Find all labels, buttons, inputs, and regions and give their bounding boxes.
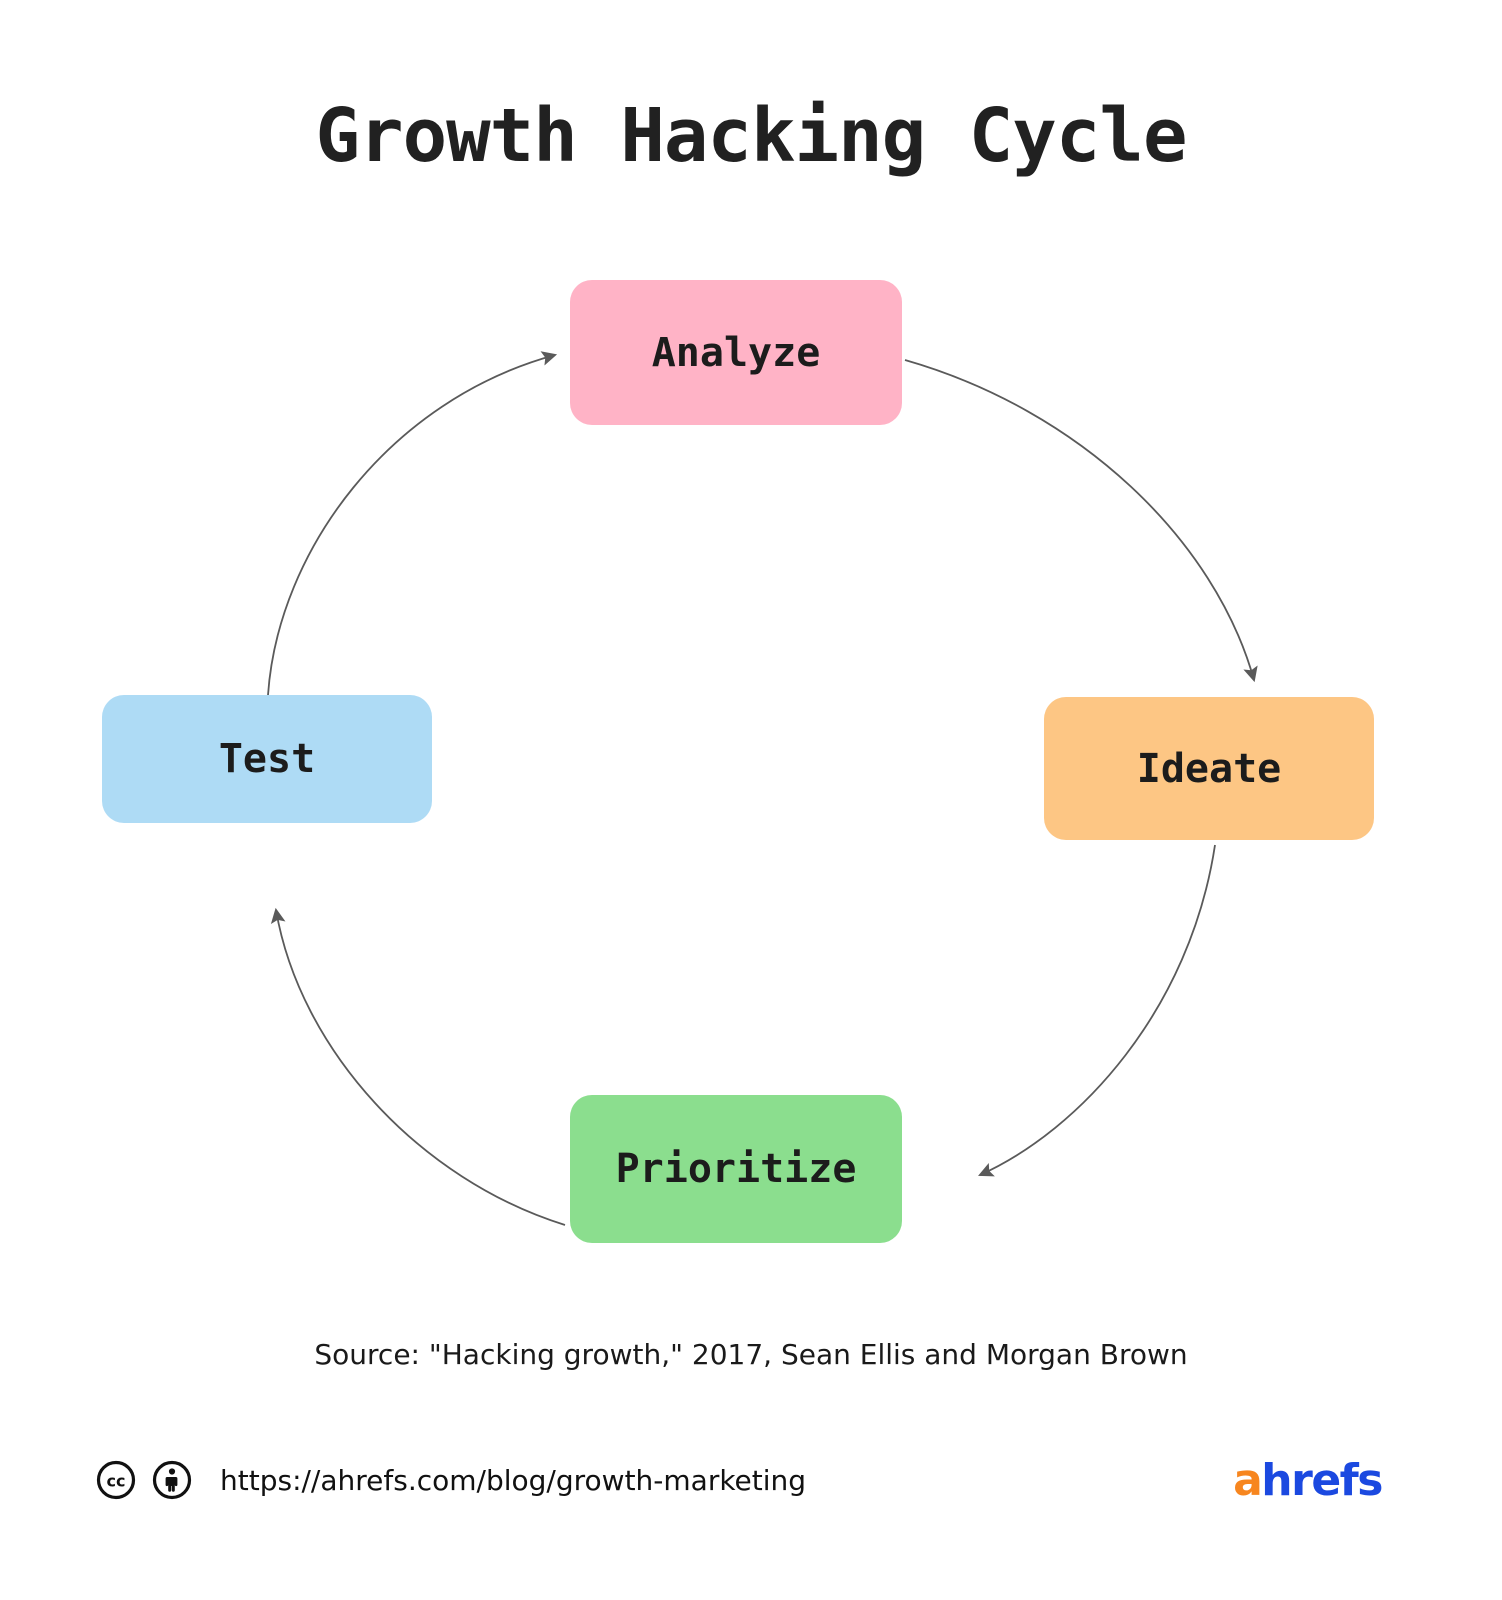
attribution-icon [152, 1460, 192, 1500]
footer: cc https://ahrefs.com/blog/growth-market… [0, 1440, 1502, 1520]
svg-text:cc: cc [107, 1472, 126, 1491]
ahrefs-logo-text: hrefs [1261, 1455, 1382, 1506]
edge-prioritize-to-test [276, 910, 565, 1225]
edge-ideate-to-prioritize [980, 845, 1215, 1175]
cycle-node-ideate-label: Ideate [1137, 746, 1282, 792]
growth-hacking-cycle-diagram: Analyze Ideate Prioritize Test [0, 250, 1502, 1300]
creative-commons-icon: cc [96, 1460, 136, 1500]
page-title: Growth Hacking Cycle [0, 96, 1502, 177]
cycle-node-prioritize[interactable]: Prioritize [570, 1095, 902, 1243]
cycle-node-analyze-label: Analyze [652, 330, 821, 376]
ahrefs-logo[interactable]: ahrefs [1233, 1440, 1382, 1520]
source-attribution: Source: "Hacking growth," 2017, Sean Ell… [0, 1338, 1502, 1371]
edge-analyze-to-ideate [905, 360, 1254, 680]
cycle-node-test-label: Test [219, 736, 315, 782]
ahrefs-logo-accent: a [1233, 1455, 1261, 1506]
edge-test-to-analyze [268, 355, 555, 695]
cycle-node-analyze[interactable]: Analyze [570, 280, 902, 425]
cycle-node-prioritize-label: Prioritize [616, 1146, 857, 1192]
cycle-node-ideate[interactable]: Ideate [1044, 697, 1374, 840]
cycle-node-test[interactable]: Test [102, 695, 432, 823]
license-group: cc https://ahrefs.com/blog/growth-market… [96, 1440, 806, 1520]
footer-url[interactable]: https://ahrefs.com/blog/growth-marketing [220, 1464, 806, 1497]
